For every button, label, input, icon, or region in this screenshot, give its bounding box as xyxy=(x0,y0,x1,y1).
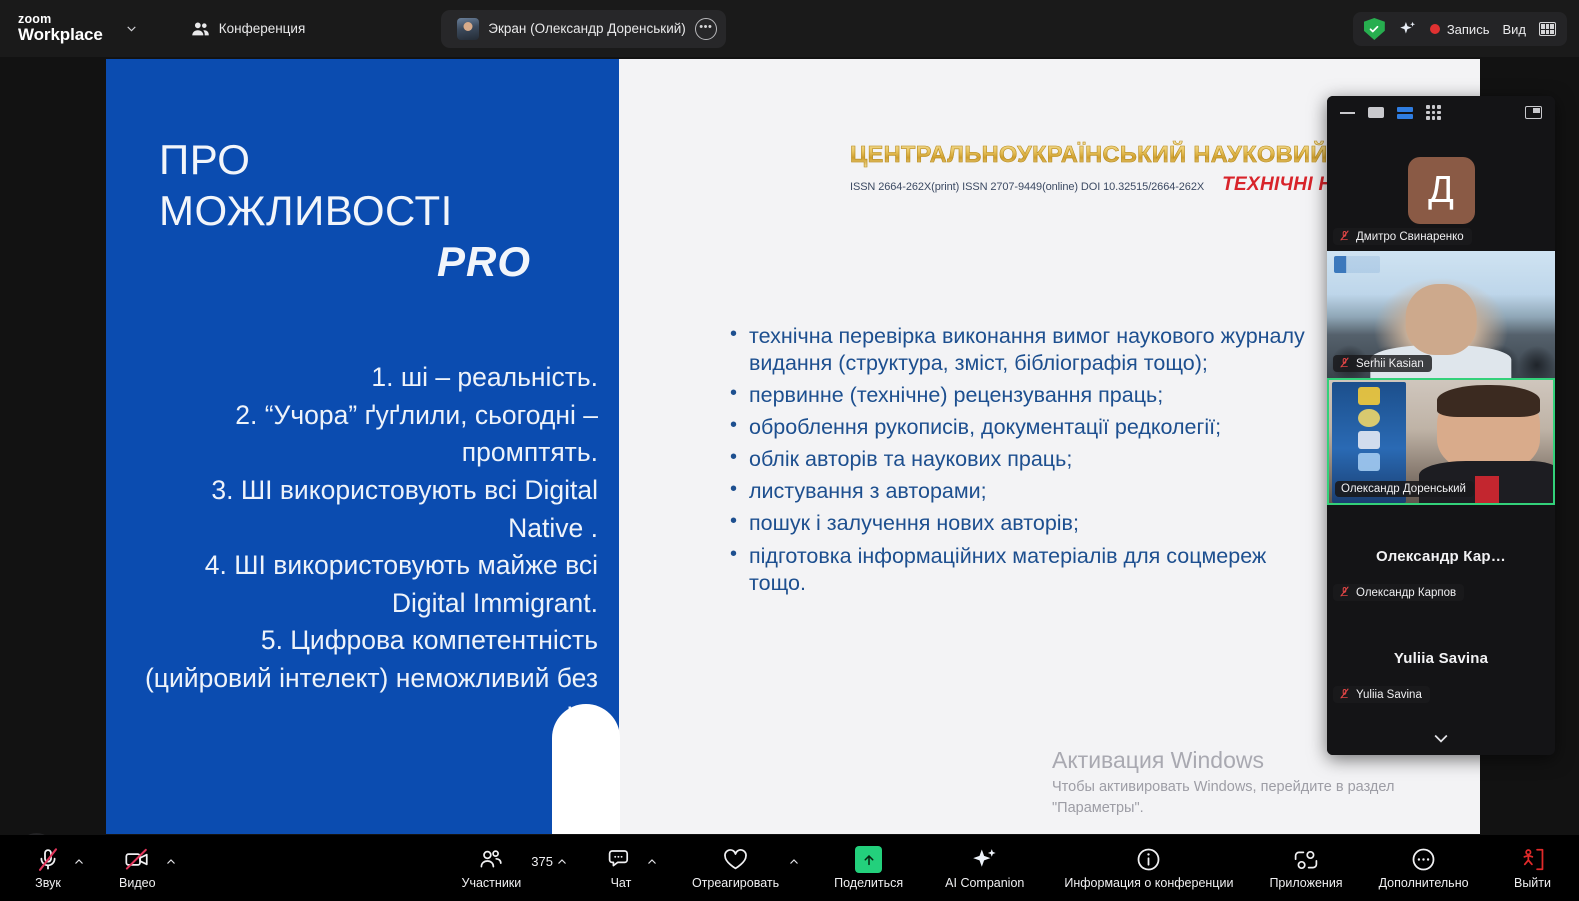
participant-name: Олександр Доренський xyxy=(1341,483,1466,495)
picture-in-picture-icon[interactable] xyxy=(1525,106,1542,119)
slide-blue-panel: ПРО МОЖЛИВОСТІ PRO 1. ші – реальність. 2… xyxy=(106,59,619,834)
meeting-toolbar: Звук Видео xyxy=(0,835,1579,901)
participant-tile[interactable]: Д Дмитро Свинаренко xyxy=(1327,129,1555,251)
video-panel-scroll-down[interactable] xyxy=(1327,721,1555,755)
meeting-info-button[interactable]: Информация о конференции xyxy=(1058,844,1239,893)
apps-icon xyxy=(1293,847,1319,873)
slide-title-line-2: МОЖЛИВОСТІ xyxy=(159,187,453,234)
maximize-icon[interactable] xyxy=(1368,107,1384,118)
speaker-view-icon[interactable] xyxy=(1397,107,1413,119)
list-item: пошук і залучення нових авторів; xyxy=(724,510,1424,537)
participant-name-badge: Олександр Доренський xyxy=(1335,481,1474,497)
brand-chevron-down-icon[interactable] xyxy=(117,14,147,44)
meeting-info-label: Информация о конференции xyxy=(1064,876,1233,890)
participant-tile[interactable]: Олександр Кар… Олександр Карпов xyxy=(1327,505,1555,607)
screen-share-avatar xyxy=(457,18,479,40)
participant-tile[interactable]: Serhii Kasian xyxy=(1327,251,1555,378)
participants-chevron-up-icon[interactable] xyxy=(554,849,570,875)
reactions-chevron-up-icon[interactable] xyxy=(786,849,802,875)
ai-companion-button[interactable]: AI Companion xyxy=(939,844,1030,893)
tab-screen-share[interactable]: Экран (Олександр Доренський) ••• xyxy=(441,10,726,48)
encryption-shield-icon[interactable] xyxy=(1364,18,1385,40)
list-item: оброблення рукописів, документації редко… xyxy=(724,414,1424,441)
more-label: Дополнительно xyxy=(1379,876,1469,890)
tab-more-options-icon[interactable]: ••• xyxy=(695,18,717,40)
reactions-button[interactable]: Отреагировать xyxy=(686,844,785,893)
microphone-muted-icon xyxy=(1339,586,1350,599)
bullet-main: пошук і залучення нових авторів; xyxy=(749,511,1079,535)
apps-button[interactable]: Приложения xyxy=(1263,844,1348,893)
chat-control-group: Чат xyxy=(599,844,660,893)
list-item: первинне (технічне) рецензування праць; xyxy=(724,382,1424,409)
leave-meeting-button[interactable]: Выйти xyxy=(1508,844,1557,893)
video-control-group: Видео xyxy=(113,844,179,893)
participant-tile[interactable]: Yuliia Savina Yuliia Savina xyxy=(1327,607,1555,709)
info-icon xyxy=(1136,847,1161,873)
participants-label: Участники xyxy=(462,876,522,890)
slide-title: ПРО МОЖЛИВОСТІ PRO xyxy=(159,134,559,288)
participants-button[interactable]: Участники xyxy=(456,844,528,893)
chat-label: Чат xyxy=(611,876,632,890)
windows-activation-body: Чтобы активировать Windows, перейдите в … xyxy=(1052,777,1422,818)
microphone-muted-icon xyxy=(1339,357,1350,370)
video-panel-header xyxy=(1327,96,1555,129)
brand-line-2: Workplace xyxy=(18,26,103,44)
bullet-main: оброблення рукописів, документації редко… xyxy=(749,415,1221,439)
bullet-main: облік авторів та наукових праць; xyxy=(749,447,1072,471)
share-screen-label: Поделиться xyxy=(834,876,903,890)
participant-name: Олександр Карпов xyxy=(1356,587,1456,599)
slide-numbered-list: 1. ші – реальність. 2. “Учора” ґуґлили, … xyxy=(136,359,598,735)
audio-control-group: Звук xyxy=(26,844,87,893)
participants-icon xyxy=(478,847,504,873)
tab-conference[interactable]: Конференция xyxy=(175,10,322,48)
recording-label: Запись xyxy=(1447,22,1490,37)
top-bar: zoom Workplace Конференция Экран (Олекса… xyxy=(0,0,1579,57)
tab-conference-label: Конференция xyxy=(219,21,306,36)
list-item: листування з авторами; xyxy=(724,478,1424,505)
microphone-muted-icon xyxy=(36,847,60,873)
bullet-cont: видання (структура, зміст, бібліографія … xyxy=(749,350,1424,377)
gallery-grid-icon[interactable] xyxy=(1426,105,1441,120)
list-item: облік авторів та наукових праць; xyxy=(724,446,1424,473)
list-item: 1. ші – реальність. xyxy=(136,359,598,397)
participants-icon xyxy=(191,21,210,37)
list-item: 3. ШІ використовують всі Digital Native … xyxy=(136,472,598,547)
windows-activation-watermark: Активация Windows Чтобы активировать Win… xyxy=(1052,747,1422,818)
audio-options-chevron-up-icon[interactable] xyxy=(71,849,87,875)
heart-reaction-icon xyxy=(722,847,749,873)
recording-indicator[interactable]: Запись xyxy=(1430,22,1490,37)
participant-name: Дмитро Свинаренко xyxy=(1356,231,1464,243)
audio-button[interactable]: Звук xyxy=(26,844,70,893)
bullet-main: технічна перевірка виконання вимог науко… xyxy=(749,324,1305,348)
chat-icon xyxy=(608,847,634,873)
shared-slide: ПРО МОЖЛИВОСТІ PRO 1. ші – реальність. 2… xyxy=(106,59,1480,834)
video-options-chevron-up-icon[interactable] xyxy=(163,849,179,875)
chat-button[interactable]: Чат xyxy=(599,844,643,893)
list-item: технічна перевірка виконання вимог науко… xyxy=(724,323,1424,377)
video-label: Видео xyxy=(119,876,156,890)
participant-name: Serhii Kasian xyxy=(1356,358,1424,370)
ai-sparkle-icon[interactable] xyxy=(1398,20,1417,39)
reactions-label: Отреагировать xyxy=(692,876,779,890)
zoom-workplace-logo: zoom Workplace xyxy=(18,13,103,44)
participants-count: 375 xyxy=(531,854,553,869)
camera-muted-icon xyxy=(124,847,151,873)
list-item: 2. “Учора” ґуґлили, сьогодні – промптять… xyxy=(136,397,598,472)
slide-decorative-pill xyxy=(552,704,620,834)
list-item: підготовка інформаційних матеріалів для … xyxy=(724,543,1424,597)
tab-screen-share-label: Экран (Олександр Доренський) xyxy=(488,21,686,36)
participant-video-panel: Д Дмитро Свинаренко xyxy=(1327,96,1555,755)
more-button[interactable]: Дополнительно xyxy=(1373,844,1475,893)
leave-meeting-label: Выйти xyxy=(1514,876,1551,890)
audio-label: Звук xyxy=(35,876,61,890)
participants-control-group: Участники 375 xyxy=(456,844,570,893)
participant-name-badge: Yuliia Savina xyxy=(1333,686,1430,703)
list-item: 4. ШІ використовують майже всі Digital I… xyxy=(136,547,598,622)
list-item: 5. Цифрова компетентність (цийровий інте… xyxy=(136,622,598,735)
record-dot-icon xyxy=(1430,24,1440,34)
slide-bullet-list: технічна перевірка виконання вимог науко… xyxy=(724,323,1424,602)
participant-name-badge: Олександр Карпов xyxy=(1333,584,1464,601)
view-grid-icon[interactable] xyxy=(1539,22,1556,36)
participant-name-badge: Дмитро Свинаренко xyxy=(1333,228,1472,245)
bullet-main: підготовка інформаційних матеріалів для … xyxy=(749,544,1266,568)
chevron-down-icon xyxy=(1431,728,1451,748)
bullet-main: листування з авторами; xyxy=(749,479,987,503)
participant-tile-active-speaker[interactable]: Олександр Доренський xyxy=(1327,378,1555,505)
avatar: Д xyxy=(1408,157,1475,224)
chat-chevron-up-icon[interactable] xyxy=(644,849,660,875)
slide-title-line-3: PRO xyxy=(159,236,559,287)
view-label[interactable]: Вид xyxy=(1502,22,1526,37)
participant-display-name: Yuliia Savina xyxy=(1394,650,1488,667)
journal-issn: ISSN 2664-262X(print) ISSN 2707-9449(onl… xyxy=(850,181,1204,193)
participant-name-badge: Serhii Kasian xyxy=(1333,355,1432,372)
leave-meeting-icon xyxy=(1519,847,1546,873)
apps-label: Приложения xyxy=(1269,876,1342,890)
reactions-control-group: Отреагировать xyxy=(686,844,802,893)
more-ellipsis-icon xyxy=(1411,847,1436,873)
ai-sparkle-icon xyxy=(971,847,998,873)
share-screen-icon xyxy=(855,847,882,873)
participant-name: Yuliia Savina xyxy=(1356,689,1422,701)
video-button[interactable]: Видео xyxy=(113,844,162,893)
microphone-muted-icon xyxy=(1339,230,1350,243)
slide-title-line-1: ПРО xyxy=(159,136,250,183)
minimize-icon[interactable] xyxy=(1340,112,1355,114)
university-logo-overlay xyxy=(1334,256,1380,273)
bullet-cont: тощо. xyxy=(749,570,1424,597)
share-screen-button[interactable]: Поделиться xyxy=(828,844,909,893)
microphone-muted-icon xyxy=(1339,688,1350,701)
top-bar-right-group: Запись Вид xyxy=(1353,12,1567,46)
participant-display-name: Олександр Кар… xyxy=(1376,548,1506,565)
ai-companion-label: AI Companion xyxy=(945,876,1024,890)
bullet-main: первинне (технічне) рецензування праць; xyxy=(749,383,1163,407)
